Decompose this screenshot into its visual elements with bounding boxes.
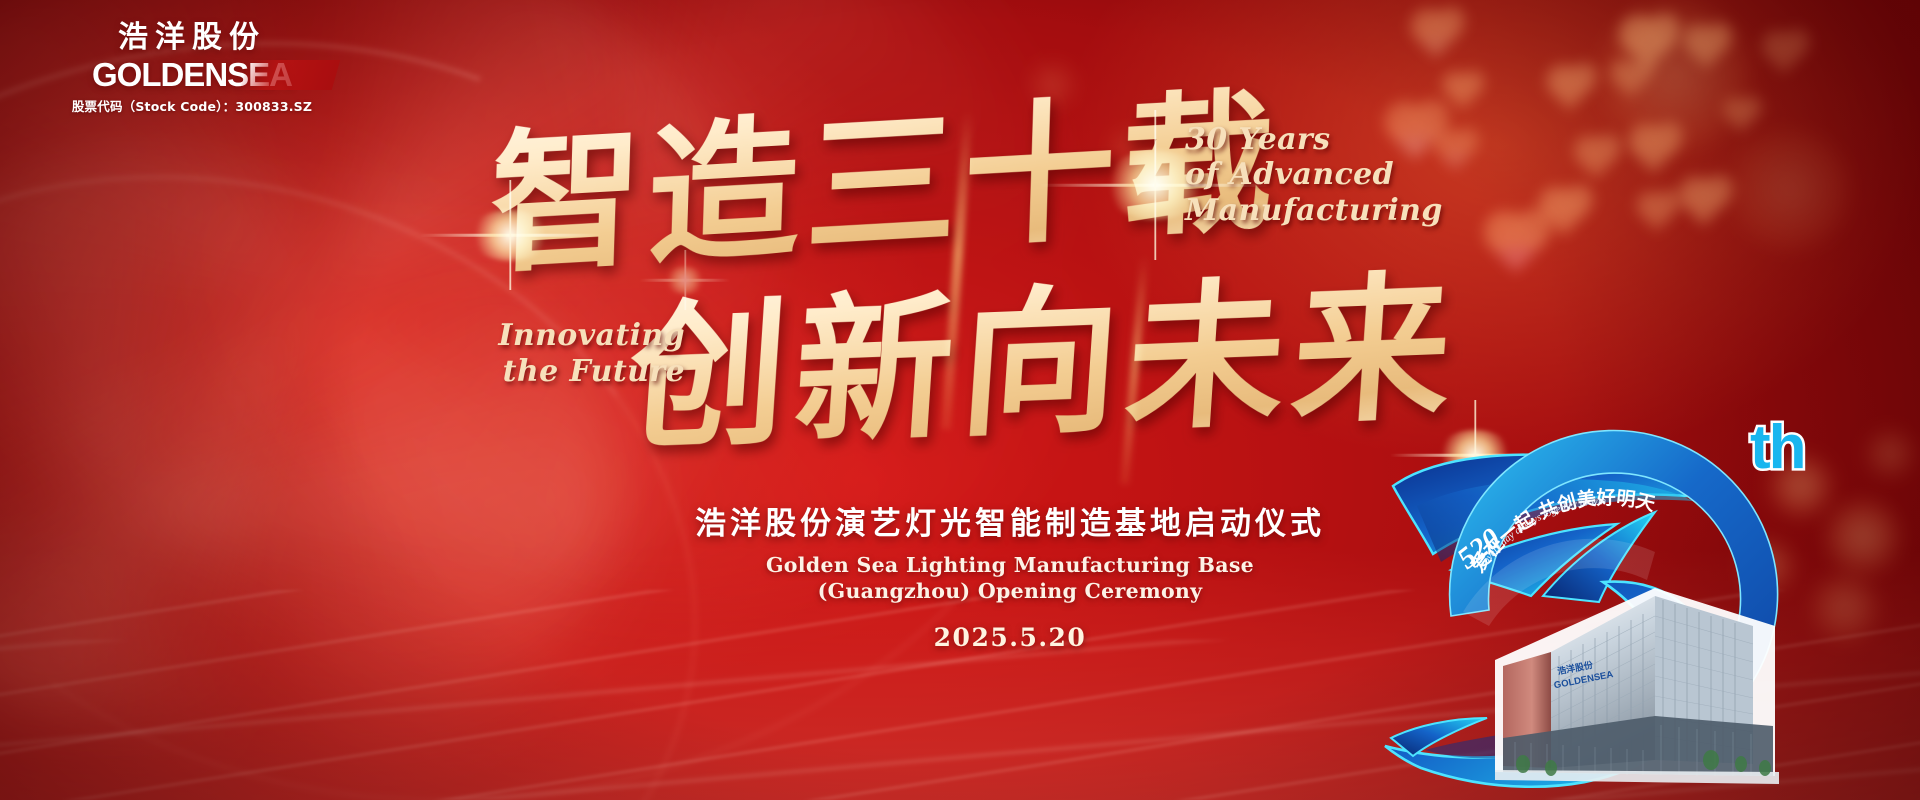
anniversary-emblem: 520 爱在一起 共创美好明天 lovely day always togeth… [1355, 420, 1920, 800]
emblem-graphic: 520 爱在一起 共创美好明天 lovely day always togeth… [1355, 420, 1920, 800]
english-caption-right: 30 Years of Advanced Manufacturing [1185, 122, 1485, 228]
event-title-english-line2: (Guangzhou) Opening Ceremony [640, 578, 1380, 604]
event-title-english-line1: Golden Sea Lighting Manufacturing Base [640, 552, 1380, 578]
logo-english-name-wrap: GOLDENSEA [42, 56, 342, 92]
event-title-chinese: 浩洋股份演艺灯光智能制造基地启动仪式 [640, 498, 1380, 543]
logo-english-name: GOLDENSEA [92, 56, 292, 93]
english-caption-left-line2: the Future [455, 354, 685, 390]
english-caption-left-line1: Innovating [455, 318, 685, 354]
english-caption-right-line1: 30 Years [1185, 122, 1485, 157]
english-caption-left: Innovating the Future [455, 318, 685, 390]
event-title-english: Golden Sea Lighting Manufacturing Base (… [640, 552, 1380, 604]
ordinal-suffix-th: th [1750, 412, 1805, 483]
stock-code-label: 股票代码（Stock Code）：300833.SZ [42, 96, 342, 115]
english-caption-right-line3: Manufacturing [1185, 193, 1485, 228]
headline-line-2: 创新向未来 [623, 219, 1468, 481]
event-date: 2025.5.20 [640, 623, 1380, 652]
logo-chinese-name: 浩洋股份 [42, 22, 342, 54]
company-logo: 浩洋股份 GOLDENSEA 股票代码（Stock Code）：300833.S… [42, 22, 342, 115]
subtitle-group: 浩洋股份演艺灯光智能制造基地启动仪式 Golden Sea Lighting M… [640, 498, 1380, 652]
headquarters-building-graphic: 浩洋股份 GOLDENSEA [1495, 588, 1779, 784]
anniversary-banner: 浩洋股份 GOLDENSEA 股票代码（Stock Code）：300833.S… [0, 0, 1920, 800]
english-caption-right-line2: of Advanced [1185, 157, 1485, 192]
